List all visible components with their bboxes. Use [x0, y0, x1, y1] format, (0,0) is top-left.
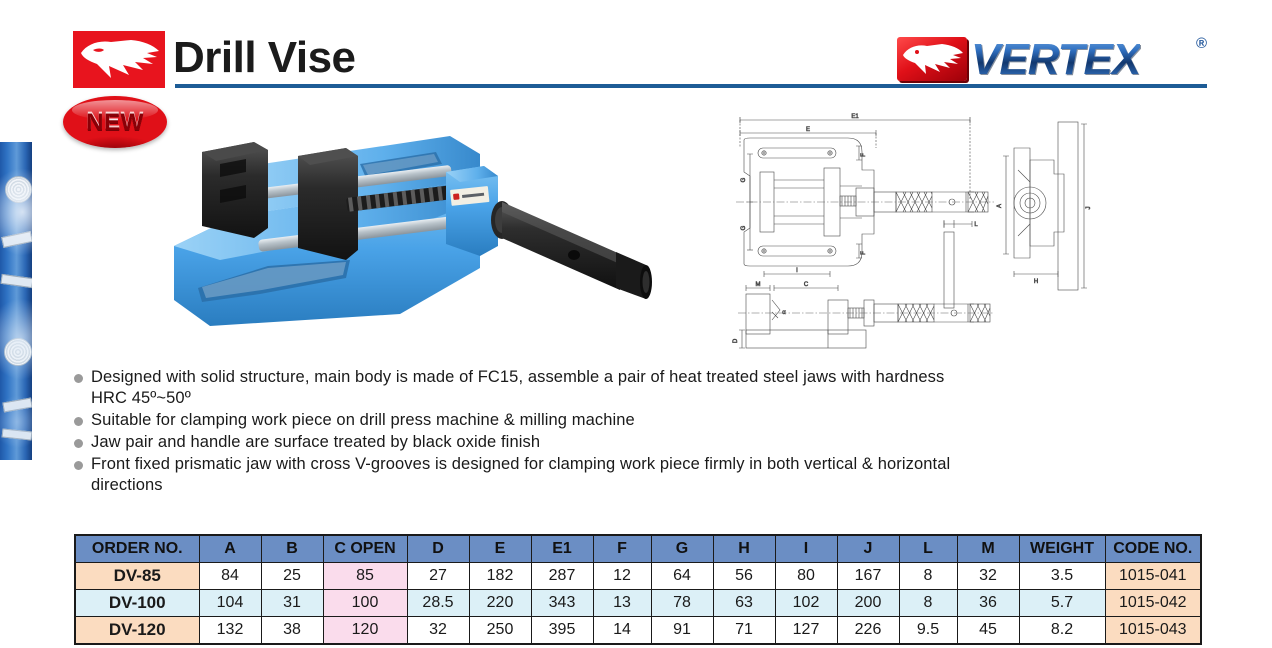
table-row: DV-120 132 38 120 32 250 395 14 91 71 12…	[75, 617, 1201, 645]
cell-i: 127	[775, 617, 837, 645]
cell-code-no: 1015-043	[1105, 617, 1201, 645]
column-header-b: B	[261, 535, 323, 563]
table-header-row: ORDER NO. A B C OPEN D E E1 F G H I J L …	[75, 535, 1201, 563]
cell-m: 32	[957, 563, 1019, 590]
feature-text: Designed with solid structure, main body…	[91, 367, 974, 409]
cell-b: 31	[261, 590, 323, 617]
eagle-head-icon	[73, 31, 165, 88]
feature-text: Front fixed prismatic jaw with cross V-g…	[91, 454, 974, 496]
column-header-f: F	[593, 535, 651, 563]
bullet-icon	[74, 417, 83, 426]
cell-b: 25	[261, 563, 323, 590]
column-header-a: A	[199, 535, 261, 563]
cell-l: 8	[899, 590, 957, 617]
column-header-c-open: C OPEN	[323, 535, 407, 563]
column-header-i: I	[775, 535, 837, 563]
cell-j: 167	[837, 563, 899, 590]
page-title: Drill Vise	[173, 36, 356, 80]
column-header-j: J	[837, 535, 899, 563]
cell-g: 64	[651, 563, 713, 590]
specification-table: ORDER NO. A B C OPEN D E E1 F G H I J L …	[74, 534, 1198, 645]
registered-trademark-icon: ®	[1196, 35, 1207, 52]
bullet-icon	[74, 374, 83, 383]
cell-code-no: 1015-041	[1105, 563, 1201, 590]
cell-weight: 3.5	[1019, 563, 1105, 590]
cell-h: 71	[713, 617, 775, 645]
column-header-l: L	[899, 535, 957, 563]
cell-d: 27	[407, 563, 469, 590]
svg-text:D: D	[733, 338, 739, 343]
technical-dimension-drawing: E1 E	[728, 108, 1100, 352]
cell-order-no: DV-100	[75, 590, 199, 617]
feature-item: Jaw pair and handle are surface treated …	[74, 432, 974, 453]
brand-logo: VERTEX ®	[897, 33, 1207, 87]
bullet-icon	[74, 439, 83, 448]
svg-text:L: L	[974, 222, 978, 228]
left-decorative-strip	[0, 142, 32, 460]
feature-text: Jaw pair and handle are surface treated …	[91, 432, 540, 453]
table-row: DV-100 104 31 100 28.5 220 343 13 78 63 …	[75, 590, 1201, 617]
column-header-weight: WEIGHT	[1019, 535, 1105, 563]
cell-code-no: 1015-042	[1105, 590, 1201, 617]
svg-text:E1: E1	[851, 114, 859, 120]
svg-text:J: J	[1086, 207, 1092, 210]
svg-text:G: G	[741, 225, 747, 230]
cell-e1: 395	[531, 617, 593, 645]
feature-text: Suitable for clamping work piece on dril…	[91, 410, 635, 431]
cell-l: 8	[899, 563, 957, 590]
cell-e: 250	[469, 617, 531, 645]
cell-m: 45	[957, 617, 1019, 645]
svg-text:C: C	[804, 282, 809, 288]
cell-b: 38	[261, 617, 323, 645]
feature-item: Designed with solid structure, main body…	[74, 367, 974, 409]
cell-h: 56	[713, 563, 775, 590]
column-header-e: E	[469, 535, 531, 563]
cell-c-open: 85	[323, 563, 407, 590]
column-header-order-no: ORDER NO.	[75, 535, 199, 563]
cell-a: 104	[199, 590, 261, 617]
product-photo	[150, 128, 670, 360]
cell-d: 28.5	[407, 590, 469, 617]
brand-wordmark: VERTEX	[971, 33, 1140, 87]
cell-g: 78	[651, 590, 713, 617]
brand-eagle-icon	[897, 37, 967, 81]
strip-gloss-overlay	[0, 142, 32, 460]
cell-d: 32	[407, 617, 469, 645]
cell-order-no: DV-85	[75, 563, 199, 590]
cell-weight: 5.7	[1019, 590, 1105, 617]
svg-text:M: M	[756, 282, 761, 288]
column-header-g: G	[651, 535, 713, 563]
bullet-icon	[74, 461, 83, 470]
column-header-code-no: CODE NO.	[1105, 535, 1201, 563]
column-header-d: D	[407, 535, 469, 563]
feature-item: Front fixed prismatic jaw with cross V-g…	[74, 454, 974, 496]
cell-g: 91	[651, 617, 713, 645]
cell-j: 226	[837, 617, 899, 645]
svg-text:H: H	[1034, 279, 1038, 285]
svg-text:A: A	[997, 204, 1003, 208]
column-header-m: M	[957, 535, 1019, 563]
column-header-e1: E1	[531, 535, 593, 563]
cell-a: 132	[199, 617, 261, 645]
cell-h: 63	[713, 590, 775, 617]
svg-text:E: E	[806, 127, 810, 133]
feature-list: Designed with solid structure, main body…	[74, 367, 974, 497]
cell-j: 200	[837, 590, 899, 617]
svg-text:F: F	[861, 251, 867, 255]
cell-e1: 287	[531, 563, 593, 590]
column-header-h: H	[713, 535, 775, 563]
cell-order-no: DV-120	[75, 617, 199, 645]
cell-f: 12	[593, 563, 651, 590]
cell-l: 9.5	[899, 617, 957, 645]
new-badge-label: NEW	[86, 108, 144, 136]
cell-weight: 8.2	[1019, 617, 1105, 645]
cell-e: 220	[469, 590, 531, 617]
table-row: DV-85 84 25 85 27 182 287 12 64 56 80 16…	[75, 563, 1201, 590]
svg-text:G: G	[741, 177, 747, 182]
cell-m: 36	[957, 590, 1019, 617]
cell-c-open: 120	[323, 617, 407, 645]
cell-c-open: 100	[323, 590, 407, 617]
cell-e: 182	[469, 563, 531, 590]
svg-text:I: I	[796, 268, 798, 274]
cell-e1: 343	[531, 590, 593, 617]
cell-f: 14	[593, 617, 651, 645]
cell-a: 84	[199, 563, 261, 590]
cell-i: 102	[775, 590, 837, 617]
feature-item: Suitable for clamping work piece on dril…	[74, 410, 974, 431]
cell-i: 80	[775, 563, 837, 590]
svg-text:F: F	[861, 153, 867, 157]
cell-f: 13	[593, 590, 651, 617]
